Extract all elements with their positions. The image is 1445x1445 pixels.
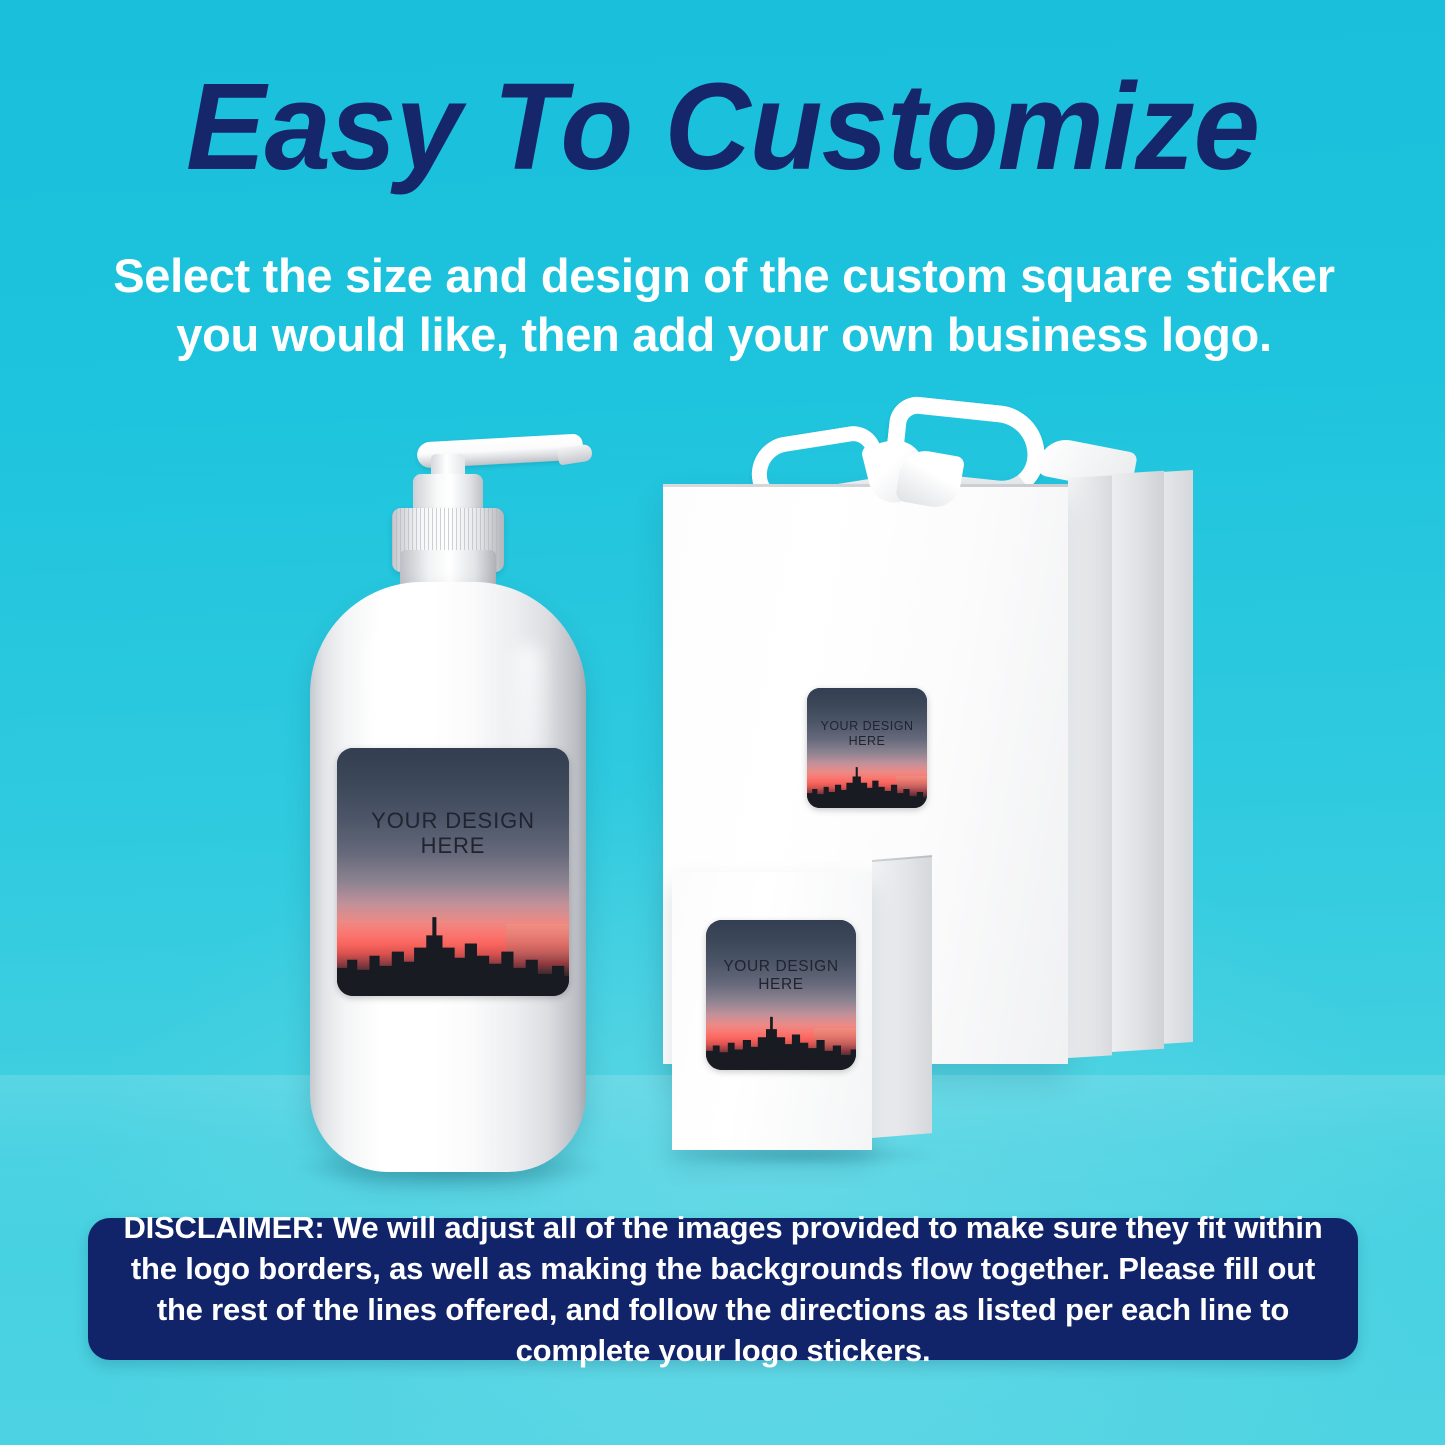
sticker-skyline — [706, 1010, 856, 1070]
sticker-text-line1: YOUR DESIGN — [807, 719, 927, 734]
sticker-text-line2: HERE — [337, 833, 569, 859]
disclaimer-label: DISCLAIMER: — [123, 1210, 324, 1245]
disclaimer-box: DISCLAIMER: We will adjust all of the im… — [88, 1218, 1358, 1360]
gift-box-lid-edge — [663, 484, 1068, 487]
gift-box-side-panel-3 — [1161, 470, 1193, 1044]
sticker-text-line1: YOUR DESIGN — [337, 808, 569, 834]
sticker-text-line2: HERE — [706, 976, 856, 994]
gift-box-side-panel-2 — [1112, 471, 1164, 1052]
sticker-skyline — [337, 907, 569, 996]
small-box-side-panel — [872, 857, 932, 1138]
page-subtitle: Select the size and design of the custom… — [110, 246, 1338, 364]
sticker-on-bottle: YOUR DESIGN HERE — [337, 748, 569, 996]
sticker-on-small-box: YOUR DESIGN HERE — [706, 920, 856, 1070]
sticker-text: YOUR DESIGN HERE — [706, 958, 856, 995]
sticker-text: YOUR DESIGN HERE — [337, 808, 569, 860]
sticker-skyline — [807, 762, 927, 808]
disclaimer-text: DISCLAIMER: We will adjust all of the im… — [88, 1207, 1358, 1372]
sticker-on-gift-box: YOUR DESIGN HERE — [807, 688, 927, 808]
pump-bottle: YOUR DESIGN HERE — [300, 432, 596, 1172]
gift-box-side-panel-1 — [1068, 475, 1112, 1058]
sticker-text-line2: HERE — [807, 734, 927, 749]
sticker-text-line1: YOUR DESIGN — [706, 958, 856, 976]
pump-nozzle-tip — [557, 443, 593, 465]
small-box: YOUR DESIGN HERE — [672, 862, 962, 1152]
page-title: Easy To Customize — [22, 66, 1424, 189]
sticker-text: YOUR DESIGN HERE — [807, 719, 927, 749]
